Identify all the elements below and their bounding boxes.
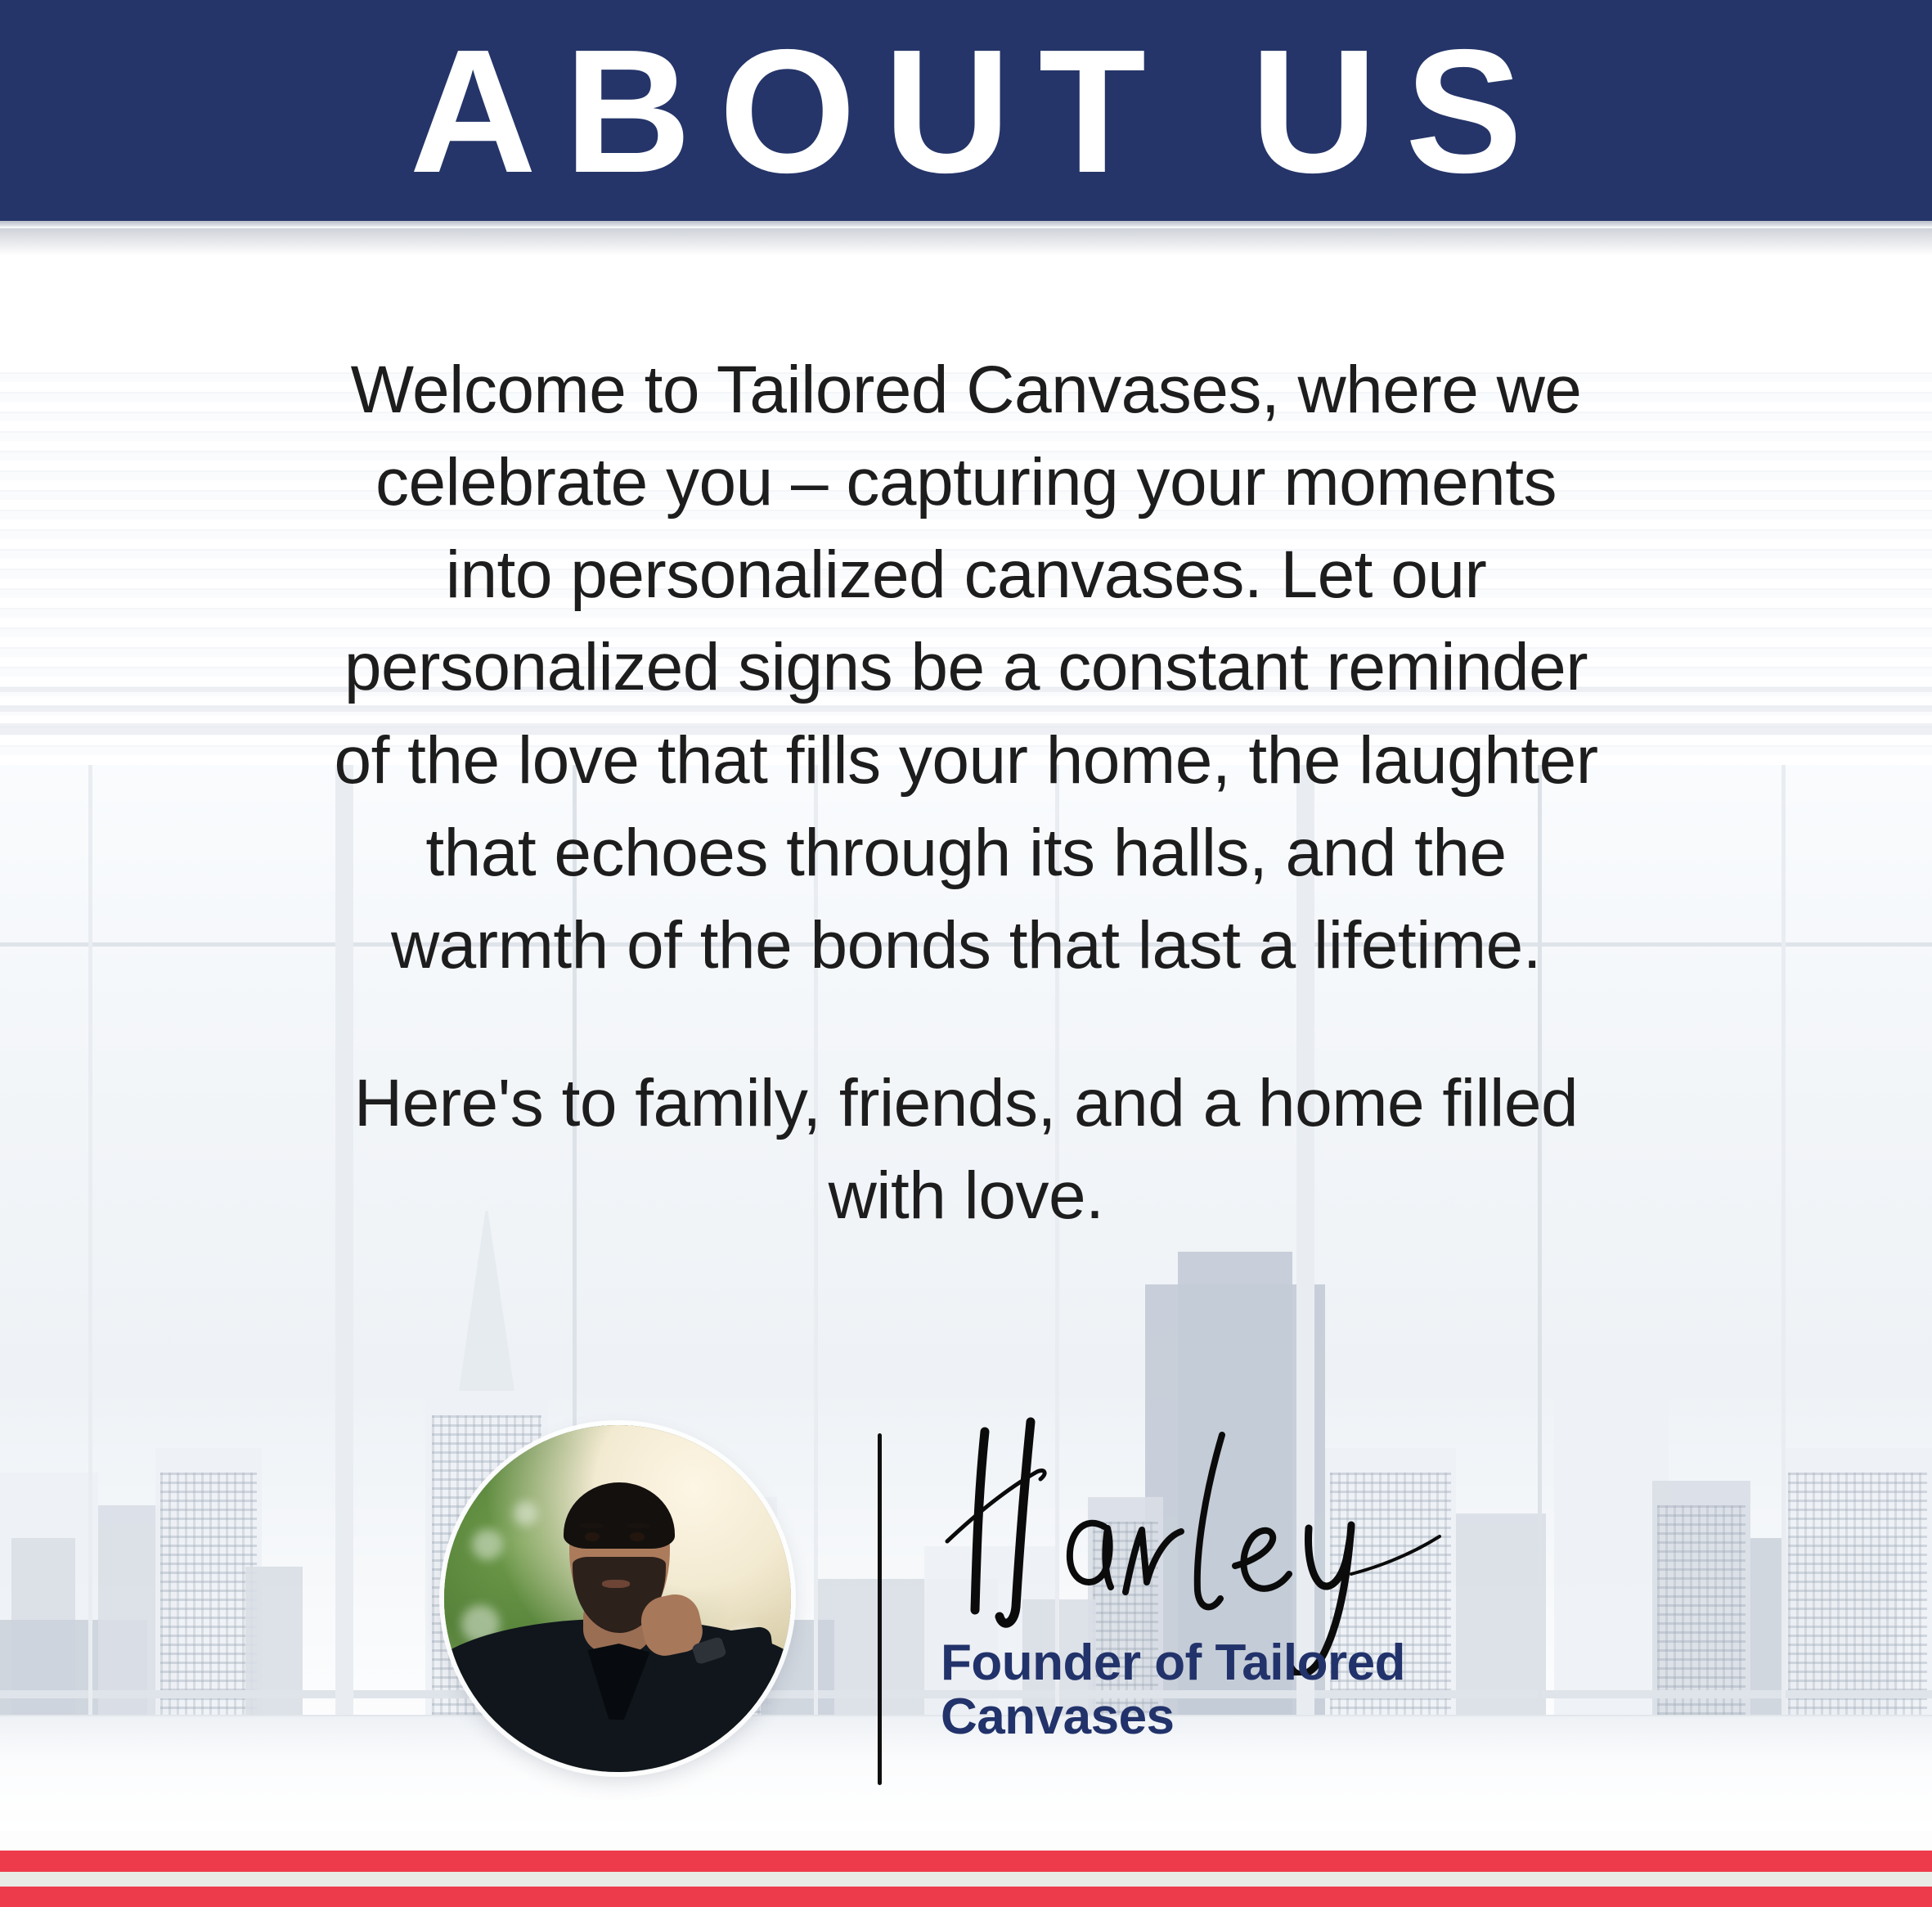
copy-line: personalized signs be a constant reminde… (0, 621, 1932, 713)
footer-stripe-red-bottom (0, 1887, 1932, 1907)
copy-line: warmth of the bonds that last a lifetime… (0, 899, 1932, 992)
about-us-poster: ABOUT US Welcome to Tailored Canvases, w… (0, 0, 1932, 1907)
header-banner: ABOUT US (0, 0, 1932, 221)
page-title: ABOUT US (382, 23, 1551, 199)
banner-underline (0, 221, 1932, 228)
founder-portrait (444, 1425, 791, 1772)
avatar (444, 1425, 791, 1772)
founder-role: Founder of Tailored Canvases (941, 1636, 1405, 1743)
signature-divider (878, 1433, 882, 1785)
copy-line: Here's to family, friends, and a home fi… (0, 1057, 1932, 1149)
copy-line: that echoes through its halls, and the (0, 807, 1932, 899)
footer-stripe-red-top (0, 1851, 1932, 1872)
paragraph-spacer (0, 992, 1932, 1057)
copy-line: of the love that fills your home, the la… (0, 714, 1932, 807)
footer-stripe-gap (0, 1872, 1932, 1887)
copy-line: Welcome to Tailored Canvases, where we (0, 344, 1932, 436)
copy-line: with love. (0, 1149, 1932, 1242)
copy-line: into personalized canvases. Let our (0, 528, 1932, 621)
copy-line: celebrate you – capturing your moments (0, 436, 1932, 528)
founder-role-line-2: Canvases (941, 1690, 1405, 1744)
about-copy: Welcome to Tailored Canvases, where we c… (0, 344, 1932, 1242)
founder-role-line-1: Founder of Tailored (941, 1636, 1405, 1690)
